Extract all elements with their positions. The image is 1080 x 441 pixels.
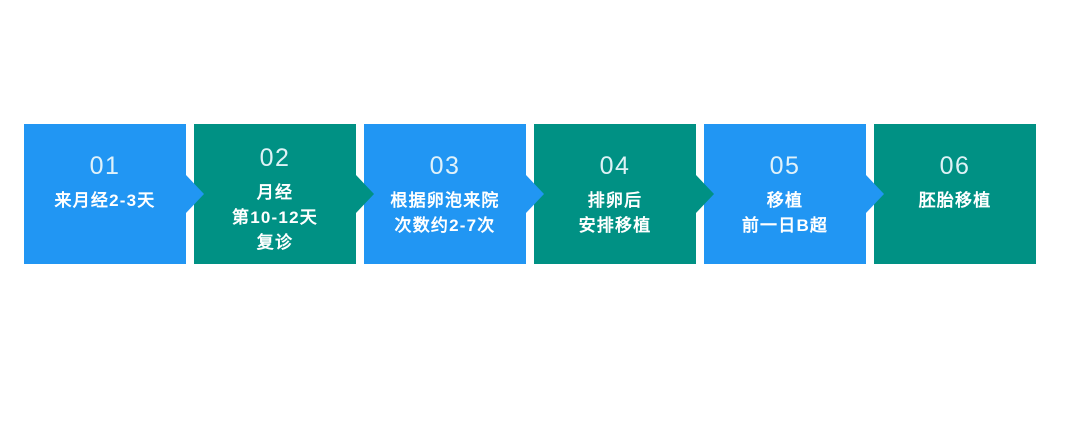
- process-step-01[interactable]: 01 来月经2-3天: [24, 124, 186, 264]
- process-step-06[interactable]: 06 胚胎移植: [874, 124, 1036, 264]
- step-number: 04: [600, 154, 631, 179]
- process-step-04[interactable]: 04 排卵后 安排移植: [534, 124, 696, 264]
- step-content: 02 月经 第10-12天 复诊: [194, 124, 356, 264]
- step-label-group: 根据卵泡来院 次数约2-7次: [364, 188, 526, 238]
- step-number: 02: [260, 146, 291, 171]
- step-content: 01 来月经2-3天: [24, 124, 186, 264]
- step-label-group: 月经 第10-12天 复诊: [194, 180, 356, 255]
- step-label-line: 排卵后: [588, 188, 643, 213]
- step-label-line: 来月经2-3天: [55, 188, 156, 213]
- step-label-line: 安排移植: [579, 213, 652, 238]
- step-label-line: 移植: [767, 188, 803, 213]
- step-number: 06: [940, 154, 971, 179]
- step-number: 05: [770, 154, 801, 179]
- step-label-group: 胚胎移植: [874, 188, 1036, 213]
- step-content: 06 胚胎移植: [874, 124, 1036, 264]
- step-label-line: 复诊: [257, 230, 293, 255]
- step-label-line: 月经: [257, 180, 293, 205]
- step-label-group: 移植 前一日B超: [704, 188, 866, 238]
- step-number: 03: [430, 154, 461, 179]
- process-step-03[interactable]: 03 根据卵泡来院 次数约2-7次: [364, 124, 526, 264]
- process-flow-diagram: 01 来月经2-3天 02 月经 第10-12天 复诊: [24, 124, 1036, 264]
- step-label-line: 根据卵泡来院: [390, 188, 499, 213]
- process-step-02[interactable]: 02 月经 第10-12天 复诊: [194, 124, 356, 264]
- step-label-line: 次数约2-7次: [395, 213, 496, 238]
- step-label-line: 前一日B超: [742, 213, 828, 238]
- step-content: 05 移植 前一日B超: [704, 124, 866, 264]
- step-content: 04 排卵后 安排移植: [534, 124, 696, 264]
- step-number: 01: [90, 154, 121, 179]
- step-label-group: 排卵后 安排移植: [534, 188, 696, 238]
- step-label-group: 来月经2-3天: [24, 188, 186, 213]
- step-label-line: 第10-12天: [232, 205, 318, 230]
- step-content: 03 根据卵泡来院 次数约2-7次: [364, 124, 526, 264]
- process-step-05[interactable]: 05 移植 前一日B超: [704, 124, 866, 264]
- step-label-line: 胚胎移植: [919, 188, 992, 213]
